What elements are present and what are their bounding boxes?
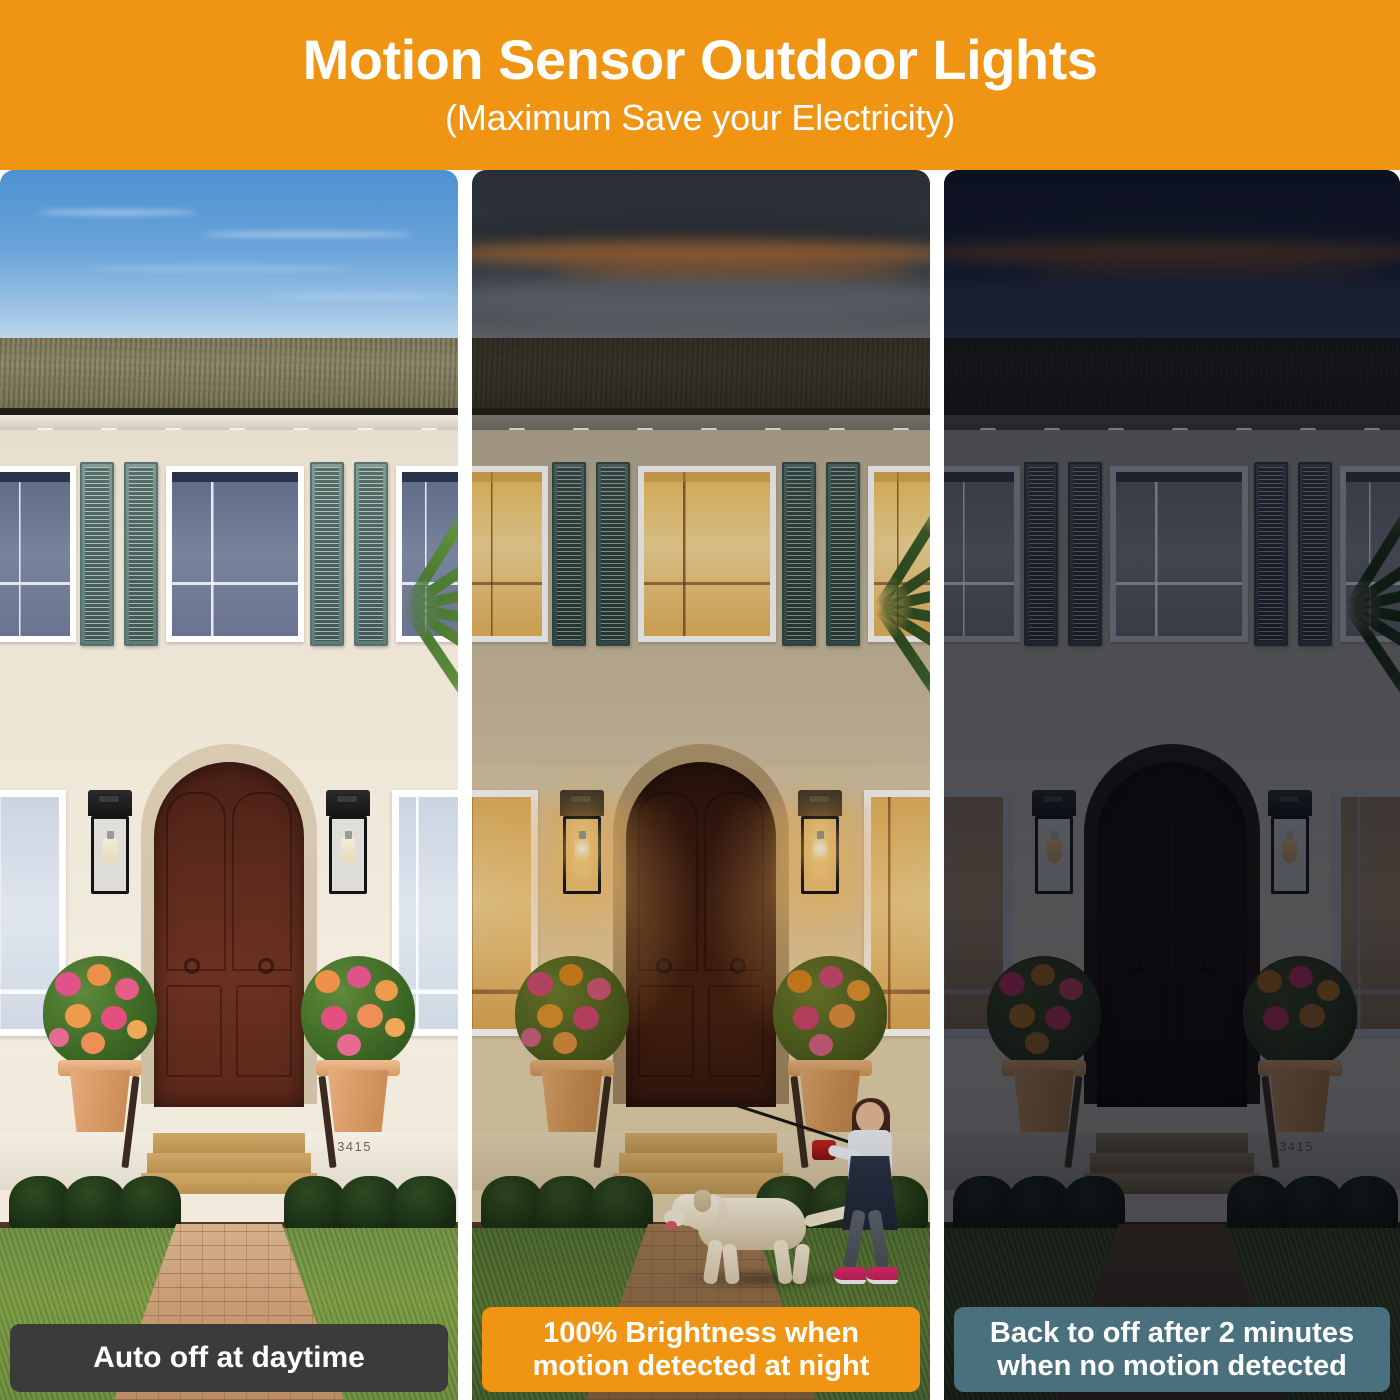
front-door bbox=[154, 762, 304, 1107]
wall-lantern-left bbox=[1032, 790, 1076, 896]
panel-motion-detected: 100% Brightness when motion detected at … bbox=[472, 170, 930, 1400]
shutter bbox=[1024, 462, 1058, 646]
product-infographic: Motion Sensor Outdoor Lights (Maximum Sa… bbox=[0, 0, 1400, 1400]
header-banner: Motion Sensor Outdoor Lights (Maximum Sa… bbox=[0, 0, 1400, 170]
panel-back-to-off: 3415 Back to off after 2 minutes when no… bbox=[944, 170, 1400, 1400]
flower-planter bbox=[1240, 960, 1360, 1150]
upper-window-left bbox=[472, 466, 548, 642]
wall-lantern-left bbox=[560, 790, 604, 896]
shutter bbox=[124, 462, 158, 646]
flower-planter bbox=[298, 960, 418, 1150]
shrub-row bbox=[944, 1170, 1400, 1232]
shutter bbox=[1254, 462, 1288, 646]
motion-sensor-icon bbox=[336, 795, 358, 803]
upper-window-left bbox=[944, 466, 1020, 642]
house-number: 3415 bbox=[337, 1139, 372, 1154]
motion-sensor-icon bbox=[808, 795, 830, 803]
flower-planter bbox=[984, 960, 1104, 1150]
flower-planter bbox=[512, 960, 632, 1150]
bulb-icon bbox=[341, 837, 356, 863]
upper-window-right bbox=[868, 466, 930, 642]
leash bbox=[723, 1100, 867, 1149]
roof bbox=[0, 338, 458, 410]
page-title: Motion Sensor Outdoor Lights bbox=[303, 31, 1098, 90]
shutter bbox=[354, 462, 388, 646]
shutter bbox=[826, 462, 860, 646]
shutter bbox=[80, 462, 114, 646]
front-door bbox=[626, 762, 776, 1107]
people-and-pet bbox=[662, 1098, 912, 1288]
caption-daytime: Auto off at daytime bbox=[10, 1324, 448, 1392]
caption-line-2: when no motion detected bbox=[960, 1350, 1384, 1382]
shutter bbox=[310, 462, 344, 646]
wall-lantern-right bbox=[326, 790, 370, 896]
bulb-icon bbox=[103, 837, 118, 863]
scene-motion-detected bbox=[472, 170, 930, 1400]
girl-walking-dog bbox=[832, 1102, 906, 1288]
roof bbox=[472, 338, 930, 410]
wall-lantern-right bbox=[798, 790, 842, 896]
bulb-icon bbox=[575, 837, 590, 863]
roof bbox=[944, 338, 1400, 410]
front-door bbox=[1097, 762, 1247, 1107]
scene-night-off: 3415 bbox=[944, 170, 1400, 1400]
bulb-icon bbox=[1047, 837, 1062, 863]
shutter bbox=[782, 462, 816, 646]
caption-line-1: Back to off after 2 minutes bbox=[960, 1317, 1384, 1349]
upper-window-center bbox=[166, 466, 304, 642]
sky-night bbox=[944, 170, 1400, 345]
scene-daytime: 3415 bbox=[0, 170, 458, 1400]
shrub-row bbox=[0, 1170, 458, 1232]
motion-sensor-icon bbox=[1042, 795, 1064, 803]
upper-window-left bbox=[0, 466, 76, 642]
motion-sensor-icon bbox=[570, 795, 592, 803]
upper-window-center bbox=[1110, 466, 1248, 642]
bulb-icon bbox=[1283, 837, 1298, 863]
shutter bbox=[596, 462, 630, 646]
house-number: 3415 bbox=[1279, 1139, 1314, 1154]
upper-window-center bbox=[638, 466, 776, 642]
caption-motion-detected: 100% Brightness when motion detected at … bbox=[482, 1307, 920, 1392]
shutter bbox=[1068, 462, 1102, 646]
shutter bbox=[552, 462, 586, 646]
caption-line-1: 100% Brightness when bbox=[488, 1317, 914, 1349]
upper-window-right bbox=[1340, 466, 1400, 642]
shutter bbox=[1298, 462, 1332, 646]
caption-line-2: motion detected at night bbox=[488, 1350, 914, 1382]
sky-daytime bbox=[0, 170, 458, 345]
flower-planter bbox=[40, 960, 160, 1150]
bulb-icon bbox=[813, 837, 828, 863]
page-subtitle: (Maximum Save your Electricity) bbox=[445, 97, 955, 139]
dog bbox=[672, 1172, 842, 1284]
panel-daytime: 3415 Auto off at daytime bbox=[0, 170, 458, 1400]
sky-dusk bbox=[472, 170, 930, 345]
motion-sensor-icon bbox=[98, 795, 120, 803]
comparison-panels: 3415 Auto off at daytime bbox=[0, 170, 1400, 1400]
wall-lantern-right bbox=[1268, 790, 1312, 896]
wall-lantern-left bbox=[88, 790, 132, 896]
caption-back-to-off: Back to off after 2 minutes when no moti… bbox=[954, 1307, 1390, 1392]
upper-window-right bbox=[396, 466, 458, 642]
motion-sensor-icon bbox=[1278, 795, 1300, 803]
